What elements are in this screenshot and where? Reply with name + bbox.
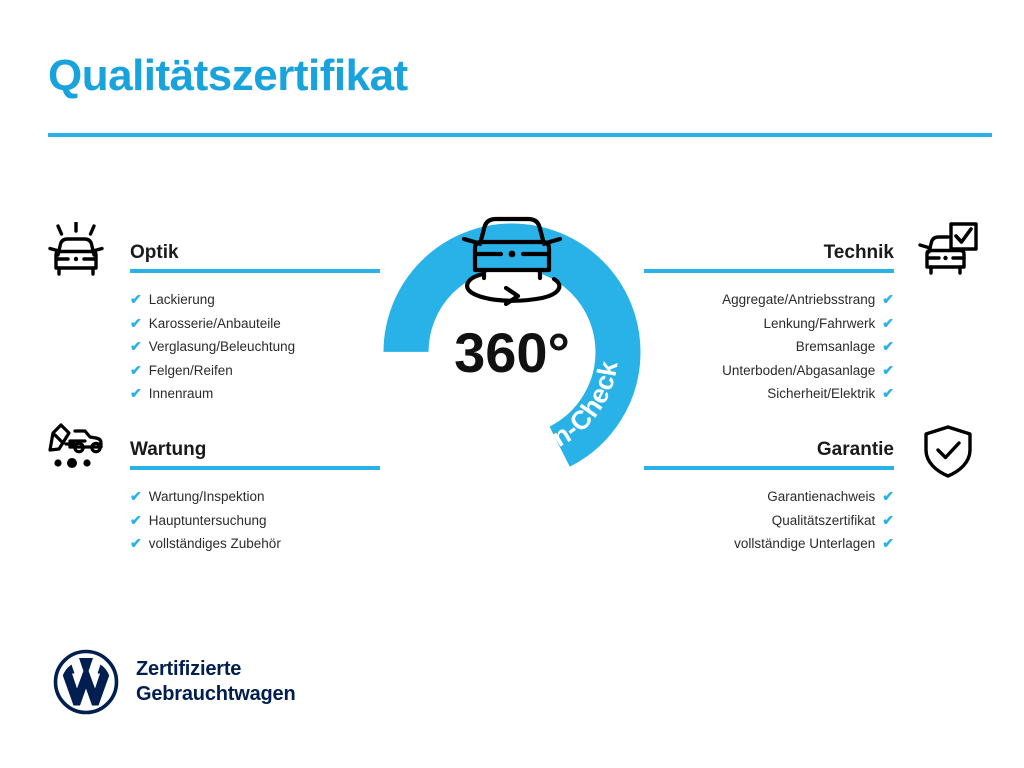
list-item-label: Hauptuntersuchung (149, 510, 267, 533)
list-item: Unterboden/Abgasanlage ✔ (644, 359, 894, 383)
volkswagen-logo (52, 648, 120, 716)
list-item: ✔ Hauptuntersuchung (130, 509, 380, 533)
check-icon: ✔ (882, 532, 894, 555)
section-header-optik: Optik (130, 240, 380, 274)
page-title: Qualitätszertifikat (48, 52, 408, 100)
check-icon: ✔ (882, 382, 894, 405)
list-item-label: Aggregate/Antriebsstrang (722, 289, 875, 312)
list-item-label: Lackierung (149, 289, 215, 312)
list-item: ✔ Innenraum (130, 382, 380, 406)
car-front-shine-icon (44, 222, 108, 278)
section-title: Technik (644, 240, 894, 266)
list-item-label: vollständige Unterlagen (734, 533, 875, 556)
badge-360-gebrauchtwagen-check: Gebrauchtwagen-Check 360° (370, 192, 654, 492)
check-icon: ✔ (130, 509, 142, 532)
section-header-technik: Technik (644, 240, 894, 274)
check-icon: ✔ (130, 312, 142, 335)
checklist-technik: Aggregate/Antriebsstrang ✔ Lenkung/Fahrw… (644, 288, 894, 406)
section-divider (644, 466, 894, 470)
list-item: ✔ Lackierung (130, 288, 380, 312)
section-title: Optik (130, 240, 380, 266)
checklist-wartung: ✔ Wartung/Inspektion ✔ Hauptuntersuchung… (130, 485, 380, 556)
list-item: Aggregate/Antriebsstrang ✔ (644, 288, 894, 312)
list-item-label: Lenkung/Fahrwerk (763, 313, 875, 336)
list-item: ✔ Karosserie/Anbauteile (130, 312, 380, 336)
list-item: Garantienachweis ✔ (644, 485, 894, 509)
check-icon: ✔ (882, 359, 894, 382)
list-item: ✔ Verglasung/Beleuchtung (130, 335, 380, 359)
check-icon: ✔ (130, 532, 142, 555)
list-item-label: Innenraum (149, 383, 214, 406)
section-divider (130, 466, 380, 470)
section-technik: Technik Aggregate/Antriebsstrang ✔ Lenku… (644, 240, 894, 406)
check-icon: ✔ (130, 485, 142, 508)
list-item: vollständige Unterlagen ✔ (644, 532, 894, 556)
list-item-label: Unterboden/Abgasanlage (722, 360, 875, 383)
list-item: ✔ Felgen/Reifen (130, 359, 380, 383)
list-item-label: Garantienachweis (767, 486, 875, 509)
footer-line-1: Zertifizierte (136, 657, 295, 682)
list-item-label: Wartung/Inspektion (149, 486, 265, 509)
list-item: Lenkung/Fahrwerk ✔ (644, 312, 894, 336)
list-item-label: Felgen/Reifen (149, 360, 233, 383)
check-icon: ✔ (130, 288, 142, 311)
check-icon: ✔ (130, 335, 142, 358)
section-header-wartung: Wartung (130, 437, 380, 471)
list-item-label: Verglasung/Beleuchtung (149, 336, 295, 359)
list-item-label: Qualitätszertifikat (772, 510, 876, 533)
list-item-label: Karosserie/Anbauteile (149, 313, 281, 336)
check-icon: ✔ (882, 288, 894, 311)
list-item: Bremsanlage ✔ (644, 335, 894, 359)
footer-line-2: Gebrauchtwagen (136, 682, 295, 707)
check-icon: ✔ (882, 335, 894, 358)
list-item: Sicherheit/Elektrik ✔ (644, 382, 894, 406)
section-divider (130, 269, 380, 273)
section-header-garantie: Garantie (644, 437, 894, 471)
check-icon: ✔ (882, 509, 894, 532)
shield-check-icon (916, 423, 980, 479)
badge-center-label: 360° (454, 321, 570, 384)
section-title: Wartung (130, 437, 380, 463)
check-icon: ✔ (882, 485, 894, 508)
certificate-page: Qualitätszertifikat Optik (0, 0, 1024, 768)
list-item: Qualitätszertifikat ✔ (644, 509, 894, 533)
list-item-label: Bremsanlage (796, 336, 876, 359)
footer-brand: Zertifizierte Gebrauchtwagen (52, 648, 295, 716)
section-divider (644, 269, 894, 273)
list-item: ✔ Wartung/Inspektion (130, 485, 380, 509)
check-icon: ✔ (882, 312, 894, 335)
check-icon: ✔ (130, 382, 142, 405)
title-divider (48, 133, 992, 137)
section-title: Garantie (644, 437, 894, 463)
footer-brand-text: Zertifizierte Gebrauchtwagen (136, 657, 295, 707)
section-optik: Optik ✔ Lackierung ✔ Karosserie/Anbautei… (130, 240, 380, 406)
checklist-garantie: Garantienachweis ✔ Qualitätszertifikat ✔… (644, 485, 894, 556)
section-garantie: Garantie Garantienachweis ✔ Qualitätszer… (644, 437, 894, 556)
pencil-car-service-icon (44, 419, 108, 475)
list-item: ✔ vollständiges Zubehör (130, 532, 380, 556)
checklist-optik: ✔ Lackierung ✔ Karosserie/Anbauteile ✔ V… (130, 288, 380, 406)
list-item-label: Sicherheit/Elektrik (767, 383, 875, 406)
check-icon: ✔ (130, 359, 142, 382)
car-front-checkbox-icon (914, 222, 978, 278)
list-item-label: vollständiges Zubehör (149, 533, 281, 556)
section-wartung: Wartung ✔ Wartung/Inspektion ✔ Hauptunte… (130, 437, 380, 556)
